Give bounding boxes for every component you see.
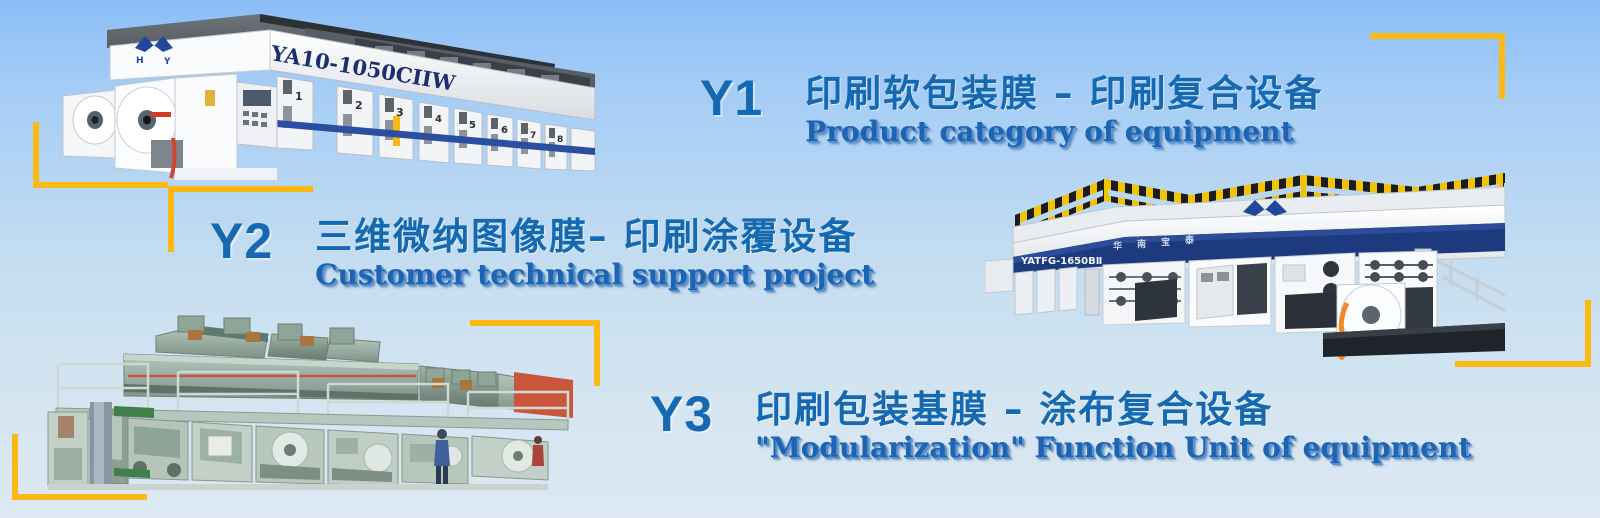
svg-text:2: 2 — [355, 99, 363, 112]
svg-text:6: 6 — [501, 125, 508, 136]
section-title-cn-y3: 印刷包装基膜 – 涂布复合设备 — [755, 388, 1471, 432]
svg-text:8: 8 — [557, 135, 563, 145]
section-title-en-y2: Customer technical support project — [315, 259, 874, 291]
accent-line-top-right-horizontal — [1370, 33, 1505, 39]
section-title-en-y3: "Modularization" Function Unit of equipm… — [755, 432, 1471, 464]
machine-illustration-y3 — [28, 308, 573, 493]
section-text-y2: 三维微纳图像膜– 印刷涂覆设备 Customer technical suppo… — [315, 215, 874, 291]
svg-text:YATFG-1650BⅡ: YATFG-1650BⅡ — [1020, 256, 1102, 267]
accent-line-top-right-vertical — [1499, 33, 1505, 99]
svg-text:宝: 宝 — [1161, 236, 1170, 248]
machine-photo-y3 — [28, 308, 573, 493]
accent-line-bottom-left-horizontal — [12, 494, 147, 500]
section-title-cn-y2: 三维微纳图像膜– 印刷涂覆设备 — [315, 215, 874, 259]
section-row-y1: Y1 印刷软包装膜 – 印刷复合设备 Product category of e… — [700, 72, 1323, 148]
svg-text:Y: Y — [163, 57, 171, 67]
accent-line-mid-left-vertical — [168, 186, 174, 252]
machine-photo-y1: H Y YA10-1050CIIW 1 2 — [55, 8, 615, 183]
accent-line-bottom-right-horizontal-2 — [1455, 361, 1591, 367]
svg-text:7: 7 — [530, 131, 536, 141]
machine-photo-y2: 华南宝泰 YATFG-1650BⅡ — [985, 165, 1515, 360]
accent-line-mid-left-horizontal — [168, 186, 313, 192]
svg-text:南: 南 — [1137, 238, 1146, 250]
section-text-y1: 印刷软包装膜 – 印刷复合设备 Product category of equi… — [805, 72, 1323, 148]
section-row-y3: Y3 印刷包装基膜 – 涂布复合设备 "Modularization" Func… — [650, 388, 1471, 464]
svg-text:H: H — [136, 56, 144, 66]
section-row-y2: Y2 三维微纳图像膜– 印刷涂覆设备 Customer technical su… — [210, 215, 874, 291]
section-text-y3: 印刷包装基膜 – 涂布复合设备 "Modularization" Functio… — [755, 388, 1471, 464]
section-title-en-y1: Product category of equipment — [805, 116, 1323, 148]
svg-text:5: 5 — [469, 120, 476, 131]
accent-line-top-left-vertical — [33, 122, 39, 188]
section-code-y3: Y3 — [650, 388, 713, 440]
svg-text:4: 4 — [435, 114, 442, 125]
product-category-banner: H Y YA10-1050CIIW 1 2 — [0, 0, 1600, 518]
section-code-y2: Y2 — [210, 215, 273, 267]
svg-text:泰: 泰 — [1184, 234, 1195, 246]
accent-line-bottom-left-vertical — [12, 434, 18, 500]
accent-line-bottom-right-vertical — [1585, 300, 1591, 366]
svg-text:华: 华 — [1113, 240, 1122, 252]
machine-illustration-y1: H Y YA10-1050CIIW 1 2 — [55, 8, 615, 183]
svg-text:1: 1 — [295, 90, 303, 103]
accent-line-mid-right-vertical — [594, 320, 600, 386]
section-title-cn-y1: 印刷软包装膜 – 印刷复合设备 — [805, 72, 1323, 116]
machine-illustration-y2: 华南宝泰 YATFG-1650BⅡ — [985, 165, 1515, 360]
section-code-y1: Y1 — [700, 72, 763, 124]
